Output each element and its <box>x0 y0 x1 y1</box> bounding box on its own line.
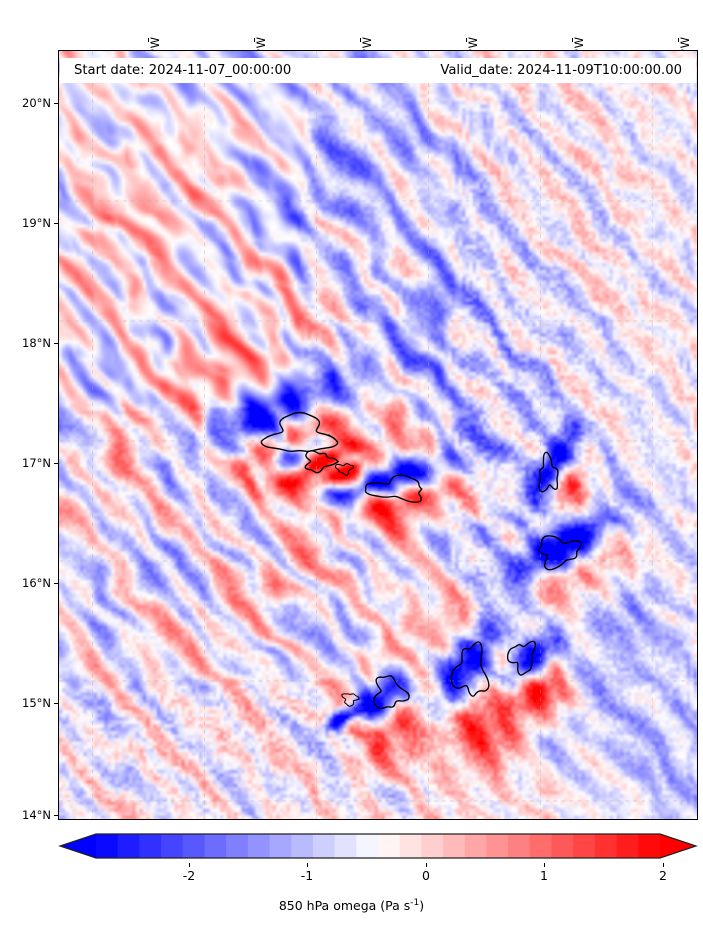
y-tick-label: 17°N <box>22 456 51 470</box>
y-tick-label: 16°N <box>22 576 51 590</box>
x-tick-mark <box>148 38 149 42</box>
colorbar-tick-mark <box>544 863 545 867</box>
map-plot-area[interactable] <box>58 50 698 820</box>
omega-heatmap <box>59 51 697 819</box>
omega-field-layer <box>59 51 697 819</box>
x-tick-mark <box>254 38 255 42</box>
colorbar-tick-label: 0 <box>422 868 430 883</box>
colorbar-axis-label: 850 hPa omega (Pa s-1) <box>0 898 703 913</box>
x-tick-mark <box>572 38 573 42</box>
date-banner: Start date: 2024-11-07_00:00:00 Valid_da… <box>60 58 696 83</box>
colorbar-label-main: 850 hPa omega (Pa s <box>279 898 410 913</box>
y-tick-label: 19°N <box>22 216 51 230</box>
y-tick-label: 20°N <box>22 96 51 110</box>
x-axis-top: 27°W 26°W 25°W 24°W 23°W 22°W <box>58 0 698 42</box>
x-tick-mark <box>360 38 361 42</box>
y-tick-label: 15°N <box>22 696 51 710</box>
y-tick-label: 18°N <box>22 336 51 350</box>
colorbar-tick-mark <box>426 863 427 867</box>
colorbar-tick-label: 1 <box>540 868 548 883</box>
colorbar-tick-mark <box>663 863 664 867</box>
valid-date-text: Valid_date: 2024-11-09T10:00:00.00 <box>440 63 682 78</box>
y-tick-label: 14°N <box>22 808 51 822</box>
x-tick-mark <box>678 38 679 42</box>
colorbar-tick-label: -1 <box>301 868 313 883</box>
colorbar-tick-label: -2 <box>183 868 195 883</box>
colorbar-label-tail: ) <box>419 898 424 913</box>
start-date-text: Start date: 2024-11-07_00:00:00 <box>74 63 291 78</box>
colorbar-tick-label: 2 <box>659 868 667 883</box>
x-tick-mark <box>466 38 467 42</box>
colorbar-label-exponent: -1 <box>410 898 419 908</box>
colorbar-tick-mark <box>189 863 190 867</box>
colorbar-tick-mark <box>307 863 308 867</box>
figure-canvas: 27°W 26°W 25°W 24°W 23°W 22°W 20°N 19°N … <box>0 0 703 936</box>
y-axis-left: 20°N 19°N 18°N 17°N 16°N 15°N 14°N <box>0 50 58 820</box>
colorbar-ticks: -2 -1 0 1 2 <box>58 863 698 889</box>
